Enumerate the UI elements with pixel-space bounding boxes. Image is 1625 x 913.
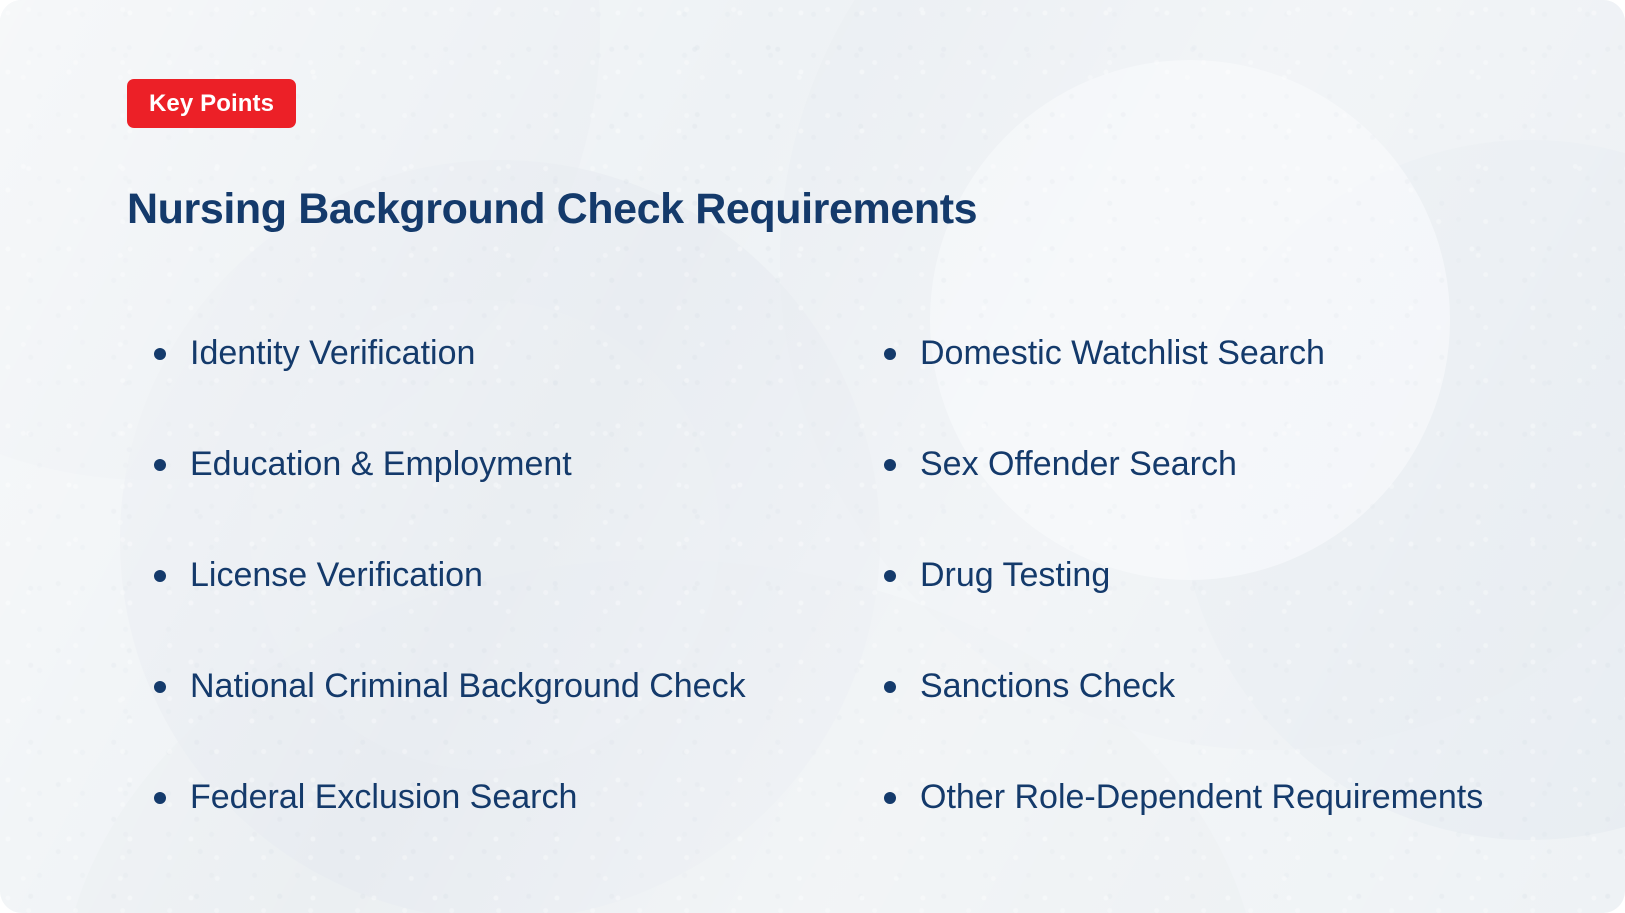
- bullet-icon: [884, 459, 896, 471]
- requirements-lists: Identity Verification Education & Employ…: [0, 310, 1625, 841]
- bullet-icon: [884, 570, 896, 582]
- list-item-label: Other Role-Dependent Requirements: [920, 754, 1520, 841]
- bullet-icon: [154, 792, 166, 804]
- requirements-list-left: Identity Verification Education & Employ…: [150, 310, 840, 841]
- bullet-icon: [154, 459, 166, 471]
- bullet-icon: [154, 570, 166, 582]
- bullet-icon: [884, 348, 896, 360]
- bullet-icon: [154, 348, 166, 360]
- list-item-label: Identity Verification: [190, 310, 840, 397]
- list-item-label: Domestic Watchlist Search: [920, 310, 1520, 397]
- list-item-label: Federal Exclusion Search: [190, 754, 840, 841]
- list-item-label: Sanctions Check: [920, 643, 1520, 730]
- requirements-list-right: Domestic Watchlist Search Sex Offender S…: [880, 310, 1520, 841]
- list-item-label: License Verification: [190, 532, 840, 619]
- list-item: License Verification: [150, 532, 840, 619]
- bullet-icon: [884, 681, 896, 693]
- list-item: National Criminal Background Check: [150, 643, 840, 730]
- key-points-badge: Key Points: [127, 79, 296, 128]
- list-item: Domestic Watchlist Search: [880, 310, 1520, 397]
- list-item-label: Sex Offender Search: [920, 421, 1520, 508]
- list-item: Identity Verification: [150, 310, 840, 397]
- list-item-label: National Criminal Background Check: [190, 643, 840, 730]
- list-item: Sex Offender Search: [880, 421, 1520, 508]
- key-points-card: Key Points Nursing Background Check Requ…: [0, 0, 1625, 913]
- page-title: Nursing Background Check Requirements: [127, 185, 977, 234]
- bullet-icon: [884, 792, 896, 804]
- key-points-badge-label: Key Points: [149, 90, 274, 118]
- list-item: Sanctions Check: [880, 643, 1520, 730]
- list-item: Other Role-Dependent Requirements: [880, 754, 1520, 841]
- list-item: Federal Exclusion Search: [150, 754, 840, 841]
- bullet-icon: [154, 681, 166, 693]
- list-item-label: Drug Testing: [920, 532, 1520, 619]
- list-item: Drug Testing: [880, 532, 1520, 619]
- list-item: Education & Employment: [150, 421, 840, 508]
- list-item-label: Education & Employment: [190, 421, 840, 508]
